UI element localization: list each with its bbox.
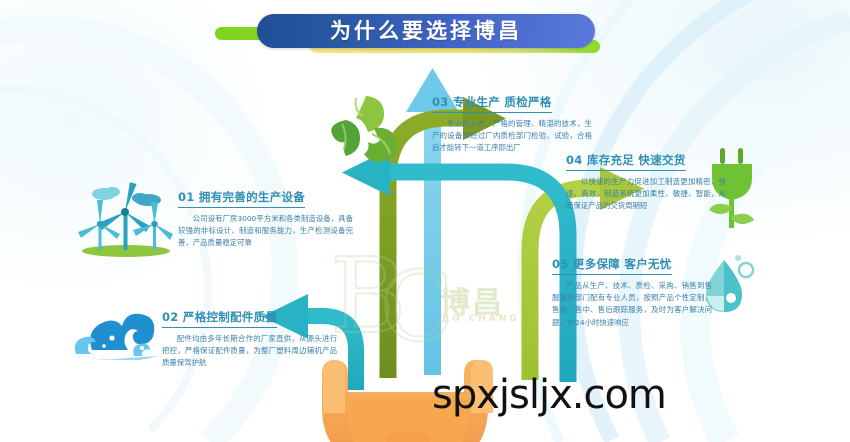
banner-title-text: 为什么要选择博昌 — [257, 14, 595, 48]
poster-canvas: 为什么要选择博昌 — [0, 0, 850, 442]
feature-body-02: 配件均由多年长期合作的厂家直供，从源头进行把控，严格保证配件质量，为整厂塑料周边… — [162, 333, 337, 370]
feature-block-02: 02 严格控制配件质量 配件均由多年长期合作的厂家直供，从源头进行把控，严格保证… — [162, 306, 337, 370]
feature-heading-02: 02 严格控制配件质量 — [162, 309, 277, 328]
feature-block-01: 01 拥有完善的生产设备 公司设有厂房3000平方米和各类制造设备，具备较强的非… — [178, 186, 353, 250]
feature-heading-04: 04 库存充足 快速交货 — [566, 152, 686, 171]
feature-body-04: 以快速的生产力促进加工制造更加精密、快速、高效，制造系统更加柔性、敏捷、智能，从… — [566, 176, 726, 213]
feature-block-04: 04 库存充足 快速交货 以快速的生产力促进加工制造更加精密、快速、高效，制造系… — [566, 149, 726, 213]
recycle-leaf-icon — [322, 92, 402, 166]
wave-icon — [72, 296, 158, 360]
feature-heading-05: 05 更多保障 客户无忧 — [552, 256, 672, 275]
feature-body-05: 产品从生产、技术、质检、采购、销售到售服服务部门配有专业人员，按照产品个性定制，… — [552, 280, 712, 329]
feature-heading-03: 03 专业生产 质检严格 — [432, 94, 552, 113]
feature-block-03: 03 专业生产 质检严格 专业的人才、严格的管理、精湛的技术，生产的设备须经过厂… — [432, 91, 592, 155]
feature-heading-01: 01 拥有完善的生产设备 — [178, 189, 305, 208]
wind-turbine-icon — [78, 172, 174, 258]
title-banner: 为什么要选择博昌 — [205, 8, 605, 56]
site-url-text: spxjsljx.com — [432, 372, 666, 418]
feature-block-05: 05 更多保障 客户无忧 产品从生产、技术、质检、采购、销售到售服服务部门配有专… — [552, 253, 712, 329]
feature-body-01: 公司设有厂房3000平方米和各类制造设备，具备较强的非标设计、制造和服务能力，生… — [178, 213, 353, 250]
